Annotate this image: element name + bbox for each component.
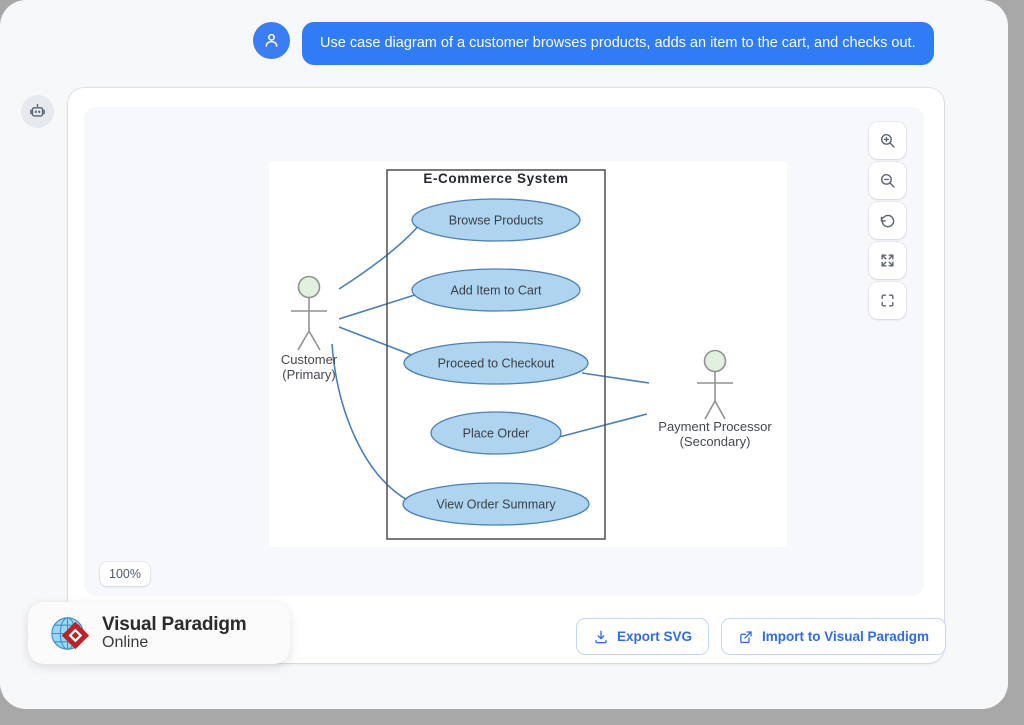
fullscreen-button[interactable] [869, 282, 906, 319]
expand-arrows-icon [879, 252, 896, 269]
use-case-group: Browse Products Add Item to Cart Proceed… [403, 199, 589, 525]
magnifier-plus-icon [879, 132, 896, 149]
use-case-label-add-item-to-cart: Add Item to Cart [450, 284, 542, 298]
magnifier-minus-icon [879, 172, 896, 189]
robot-icon [28, 102, 47, 121]
connector-customer-addcart [339, 293, 421, 319]
rotate-ccw-icon [879, 212, 896, 229]
zoom-toolbar [869, 122, 906, 319]
user-icon [262, 31, 281, 50]
import-to-visual-paradigm-label: Import to Visual Paradigm [762, 629, 929, 644]
brand-name-primary: Visual Paradigm [102, 615, 247, 635]
actor-payment-processor-name: Payment Processor [658, 419, 772, 434]
reset-view-button[interactable] [869, 202, 906, 239]
user-avatar [253, 22, 290, 59]
user-message: Use case diagram of a customer browses p… [253, 22, 934, 65]
fullscreen-corners-icon [879, 292, 896, 309]
fit-screen-button[interactable] [869, 242, 906, 279]
actor-payment-processor[interactable]: Payment Processor (Secondary) [658, 351, 772, 450]
brand-text: Visual Paradigm Online [102, 615, 247, 651]
connector-checkout-payment [582, 373, 649, 383]
actor-payment-processor-role: (Secondary) [680, 434, 751, 449]
export-svg-button[interactable]: Export SVG [576, 618, 709, 655]
actor-customer[interactable]: Customer (Primary) [281, 277, 338, 383]
footer-actions: Export SVG Import to Visual Paradigm [576, 618, 946, 655]
connector-customer-browse [339, 223, 421, 289]
screen-root: Use case diagram of a customer browses p… [0, 0, 1024, 725]
use-case-label-browse-products: Browse Products [449, 214, 543, 228]
actor-customer-name: Customer [281, 352, 338, 367]
use-case-label-view-order-summary: View Order Summary [436, 498, 556, 512]
brand-name-secondary: Online [102, 635, 247, 651]
import-to-visual-paradigm-button[interactable]: Import to Visual Paradigm [721, 618, 946, 655]
connector-customer-checkout [339, 327, 417, 357]
use-case-label-place-order: Place Order [463, 427, 530, 441]
external-link-icon [738, 629, 754, 645]
use-case-label-proceed-to-checkout: Proceed to Checkout [438, 357, 555, 371]
download-icon [593, 629, 609, 645]
connector-placeorder-payment [559, 414, 647, 437]
use-case-diagram: E-Commerce System Browse Products Add It… [269, 161, 787, 547]
zoom-in-button[interactable] [869, 122, 906, 159]
system-boundary-title: E-Commerce System [423, 171, 568, 186]
diagram-canvas[interactable]: E-Commerce System Browse Products Add It… [269, 161, 787, 547]
connector-customer-summary [332, 344, 409, 501]
bot-avatar [21, 95, 54, 128]
zoom-level-badge[interactable]: 100% [100, 562, 150, 586]
export-svg-label: Export SVG [617, 629, 692, 644]
zoom-out-button[interactable] [869, 162, 906, 199]
actor-customer-role: (Primary) [282, 367, 335, 382]
brand-badge: Visual Paradigm Online [28, 602, 290, 664]
globe-diamond-logo [46, 610, 93, 657]
user-message-text: Use case diagram of a customer browses p… [302, 22, 934, 65]
